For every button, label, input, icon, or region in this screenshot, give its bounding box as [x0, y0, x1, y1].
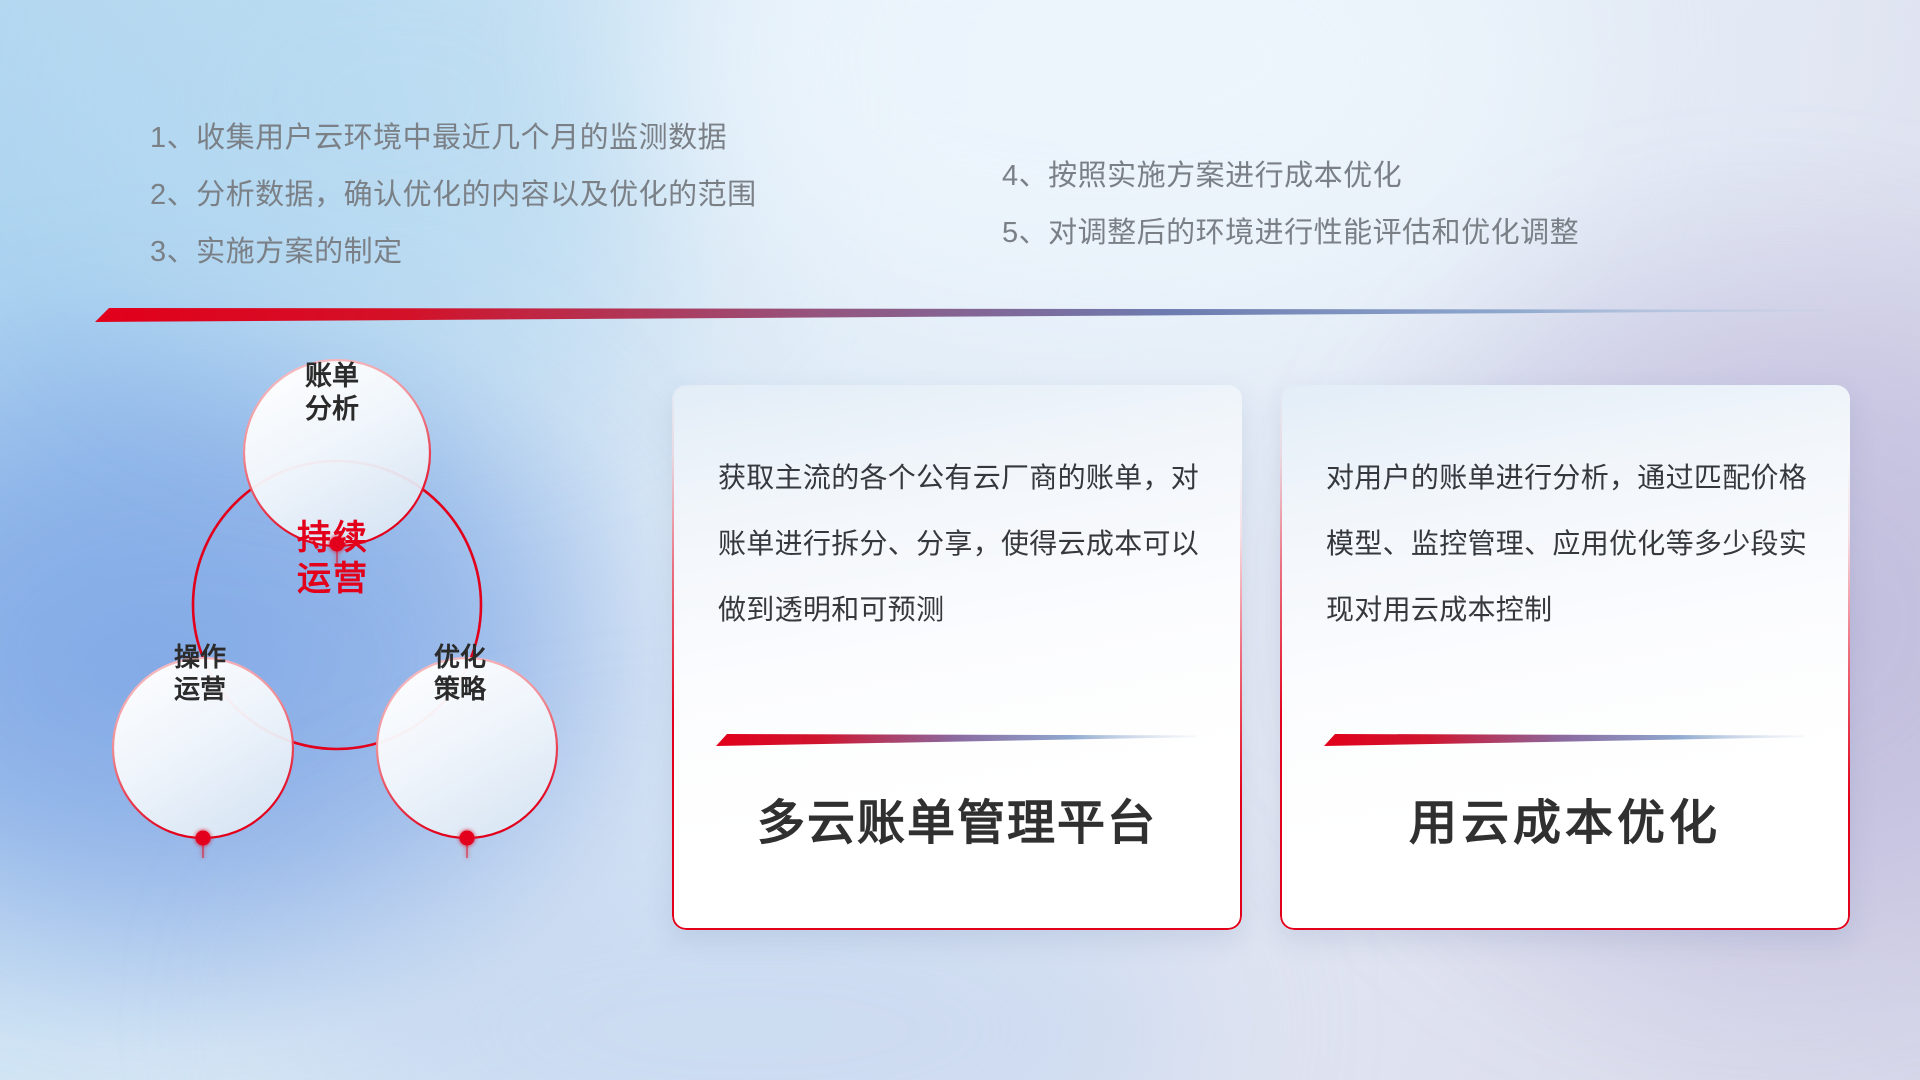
venn-node-left: [196, 831, 211, 846]
card-multicloud-billing[interactable]: 获取主流的各个公有云厂商的账单，对账单进行拆分、分享，使得云成本可以做到透明和可…: [672, 385, 1242, 930]
card-accent-rule: [1324, 730, 1804, 746]
slide-canvas: 1、收集用户云环境中最近几个月的监测数据 2、分析数据，确认优化的内容以及优化的…: [0, 0, 1920, 1080]
venn-node-right: [460, 831, 475, 846]
card-body-text: 对用户的账单进行分析，通过匹配价格模型、监控管理、应用优化等多少段实现对用云成本…: [1326, 445, 1808, 643]
venn-label-left: 操作 运营: [125, 642, 275, 705]
steps-list-right: 4、按照实施方案进行成本优化 5、对调整后的环境进行性能评估和优化调整: [1002, 148, 1579, 262]
step-item-1: 1、收集用户云环境中最近几个月的监测数据: [150, 110, 757, 167]
step-item-3: 3、实施方案的制定: [150, 224, 757, 281]
section-divider: [95, 300, 1825, 322]
step-item-2: 2、分析数据，确认优化的内容以及优化的范围: [150, 167, 757, 224]
card-accent-rule: [716, 730, 1196, 746]
venn-label-top: 账单 分析: [257, 360, 407, 426]
step-item-4: 4、按照实施方案进行成本优化: [1002, 148, 1579, 205]
card-title: 多云账单管理平台: [672, 783, 1242, 853]
card-body-text: 获取主流的各个公有云厂商的账单，对账单进行拆分、分享，使得云成本可以做到透明和可…: [718, 445, 1200, 643]
card-title: 用云成本优化: [1280, 783, 1850, 853]
venn-label-center: 持续 运营: [243, 518, 423, 600]
venn-label-right: 优化 策略: [385, 642, 535, 705]
continuous-operation-diagram: 账单 分析 操作 运营 优化 策略 持续 运营: [95, 340, 615, 950]
steps-list-left: 1、收集用户云环境中最近几个月的监测数据 2、分析数据，确认优化的内容以及优化的…: [150, 110, 757, 281]
step-item-5: 5、对调整后的环境进行性能评估和优化调整: [1002, 205, 1579, 262]
card-cloud-cost-optimization[interactable]: 对用户的账单进行分析，通过匹配价格模型、监控管理、应用优化等多少段实现对用云成本…: [1280, 385, 1850, 930]
